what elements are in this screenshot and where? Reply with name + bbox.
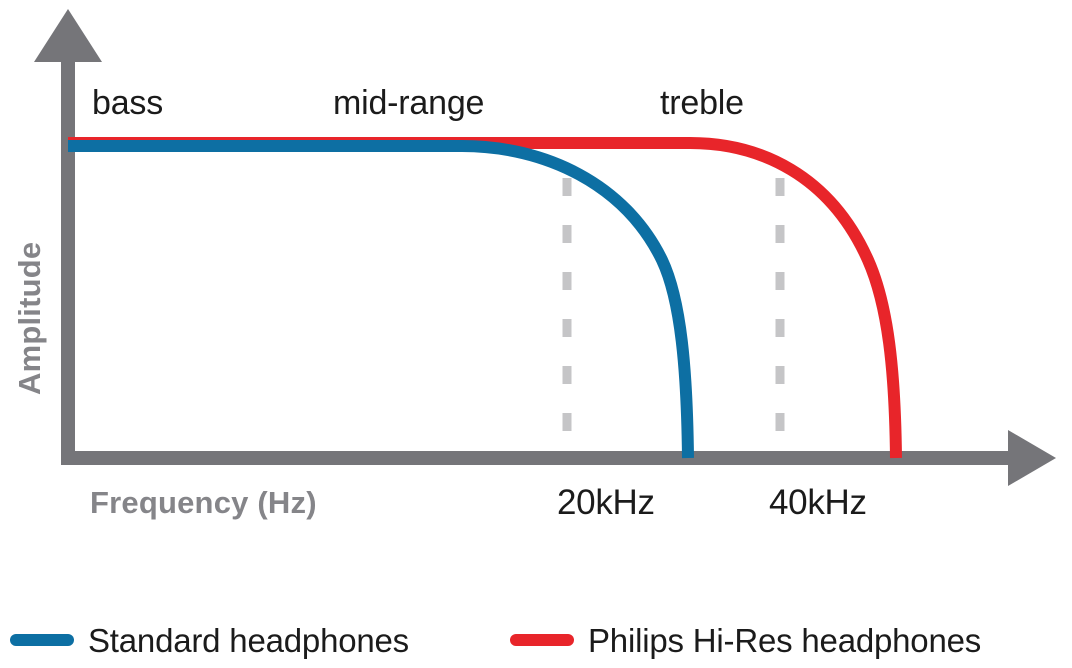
x-axis-title: Frequency (Hz) bbox=[90, 485, 317, 521]
y-axis-title: Amplitude bbox=[12, 242, 48, 395]
band-label-mid-range: mid-range bbox=[333, 84, 484, 123]
arrow-right-icon bbox=[1008, 430, 1056, 486]
series-line-standard-headphones bbox=[68, 146, 688, 458]
x-tick-label-40khz: 40kHz bbox=[769, 483, 867, 523]
legend-label-philips-hi-res-headphones: Philips Hi-Res headphones bbox=[588, 622, 981, 660]
legend-swatch-philips-hi-res-headphones bbox=[510, 634, 574, 646]
x-axis-line bbox=[61, 451, 1016, 465]
band-label-bass: bass bbox=[92, 84, 163, 123]
frequency-response-chart: bass mid-range treble Frequency (Hz) Amp… bbox=[0, 0, 1072, 668]
arrow-up-icon bbox=[34, 9, 102, 62]
band-label-treble: treble bbox=[660, 84, 744, 123]
x-tick-label-20khz: 20kHz bbox=[557, 483, 655, 523]
legend-swatch-standard-headphones bbox=[10, 634, 74, 646]
y-axis-line bbox=[61, 33, 75, 458]
legend-label-standard-headphones: Standard headphones bbox=[88, 622, 409, 660]
series-line-philips-hi-res-headphones bbox=[68, 143, 896, 458]
